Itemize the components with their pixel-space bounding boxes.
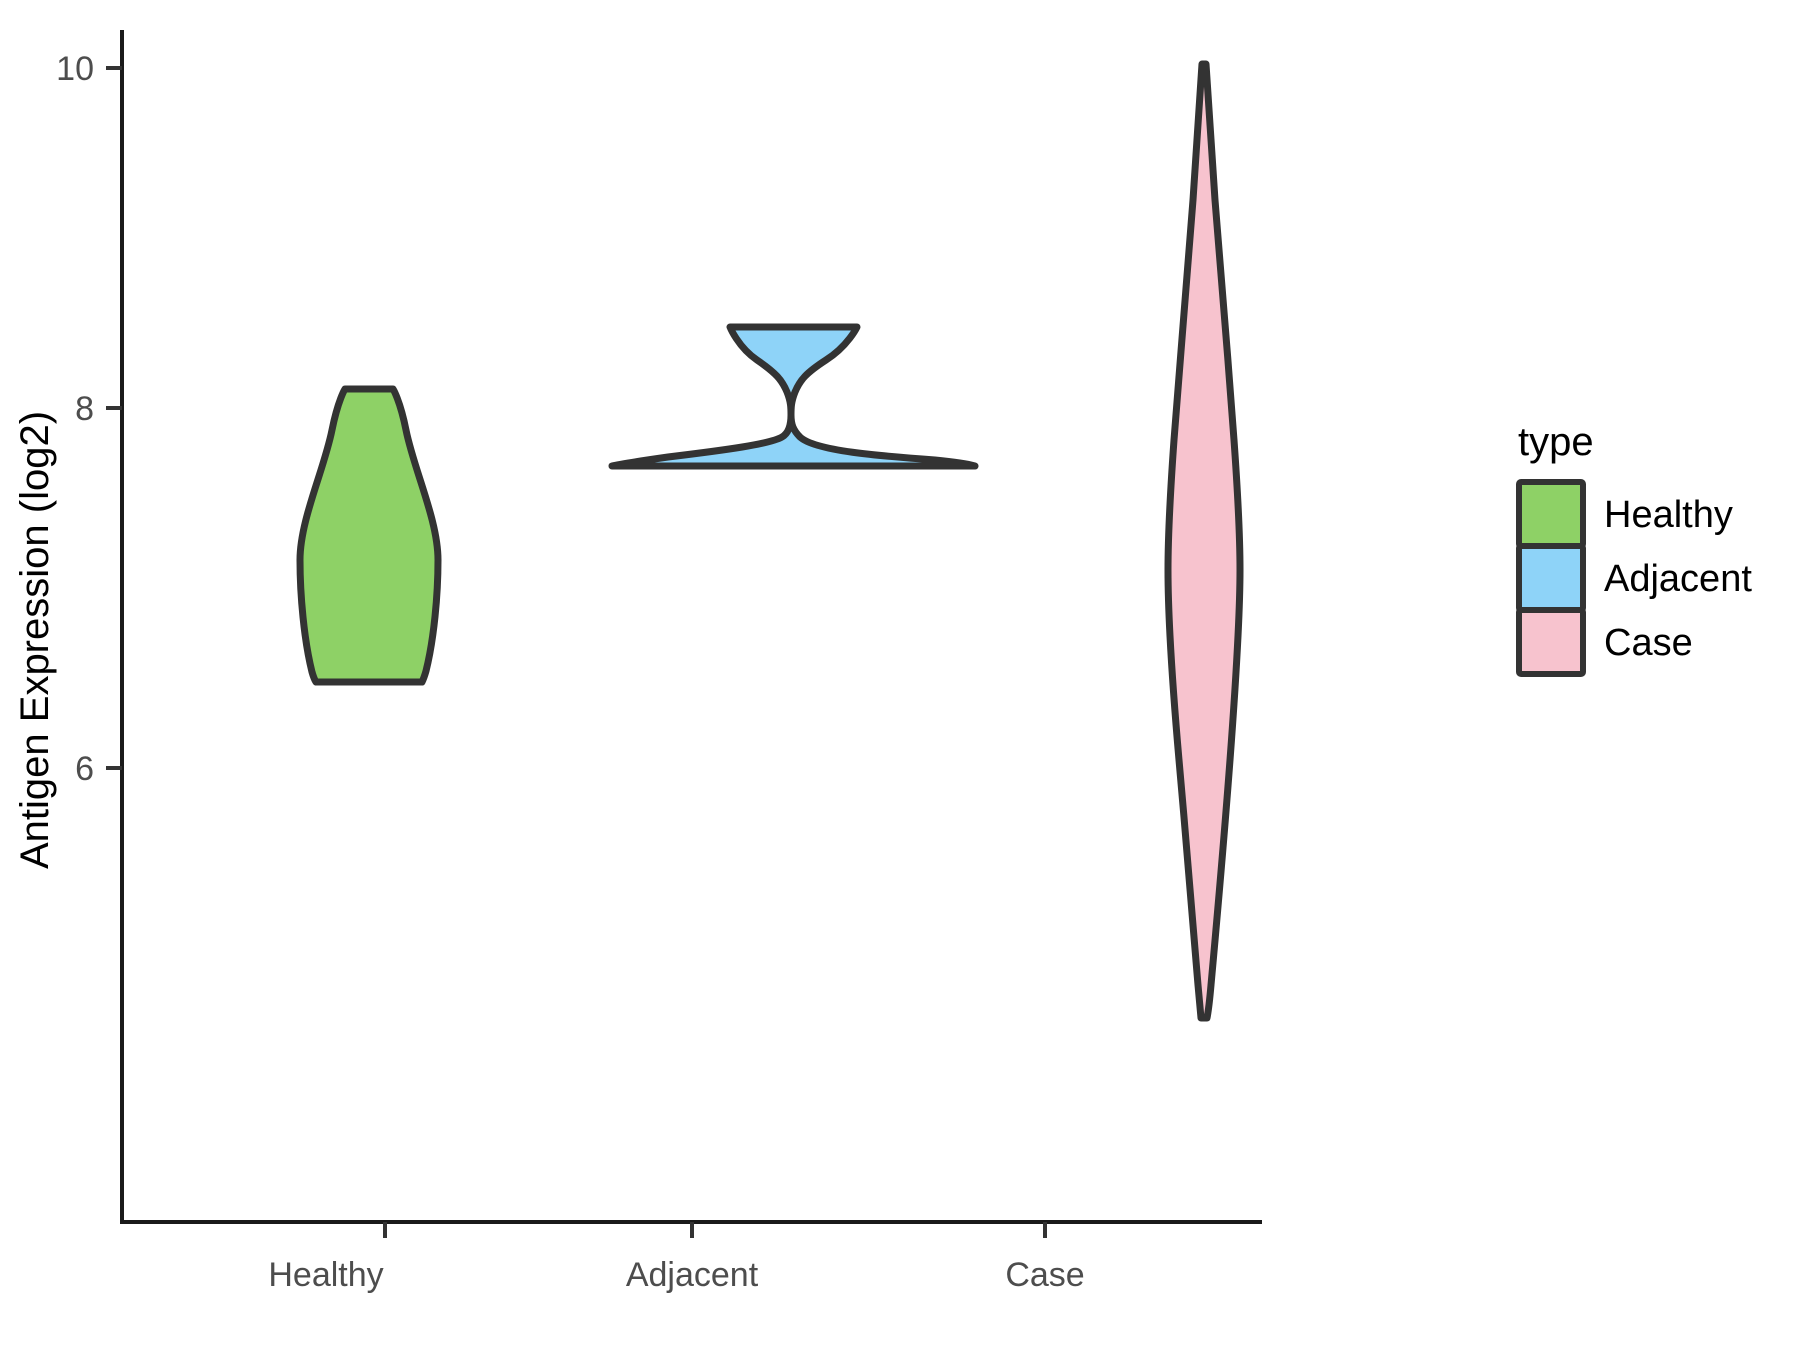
- y-tick-label-10: 10: [56, 50, 94, 88]
- y-axis-title: Antigen Expression (log2): [13, 411, 57, 869]
- violin-case: [1168, 64, 1240, 1018]
- violin-healthy: [300, 389, 438, 682]
- legend-title: type: [1518, 420, 1594, 464]
- y-tick-label-6: 6: [75, 750, 94, 788]
- x-axis-ticks: [385, 1222, 1045, 1238]
- legend: type Healthy Adjacent Case: [1518, 420, 1752, 674]
- y-tick-label-8: 8: [75, 390, 94, 428]
- legend-swatch-case[interactable]: [1519, 610, 1583, 674]
- x-tick-label-healthy: Healthy: [268, 1256, 383, 1294]
- x-tick-label-case: Case: [1005, 1256, 1084, 1294]
- legend-label-case: Case: [1604, 622, 1693, 664]
- violin-plot-figure: 10 8 6 Antigen Expression (log2) Healthy…: [0, 0, 1800, 1350]
- y-axis-ticks: [106, 68, 122, 768]
- x-tick-label-adjacent: Adjacent: [626, 1256, 759, 1294]
- violin-adjacent: [612, 327, 975, 466]
- legend-swatch-healthy[interactable]: [1519, 482, 1583, 546]
- legend-swatch-adjacent[interactable]: [1519, 546, 1583, 610]
- legend-label-healthy: Healthy: [1604, 494, 1733, 536]
- legend-label-adjacent: Adjacent: [1604, 558, 1752, 600]
- plot-canvas: 10 8 6 Antigen Expression (log2) Healthy…: [0, 0, 1800, 1350]
